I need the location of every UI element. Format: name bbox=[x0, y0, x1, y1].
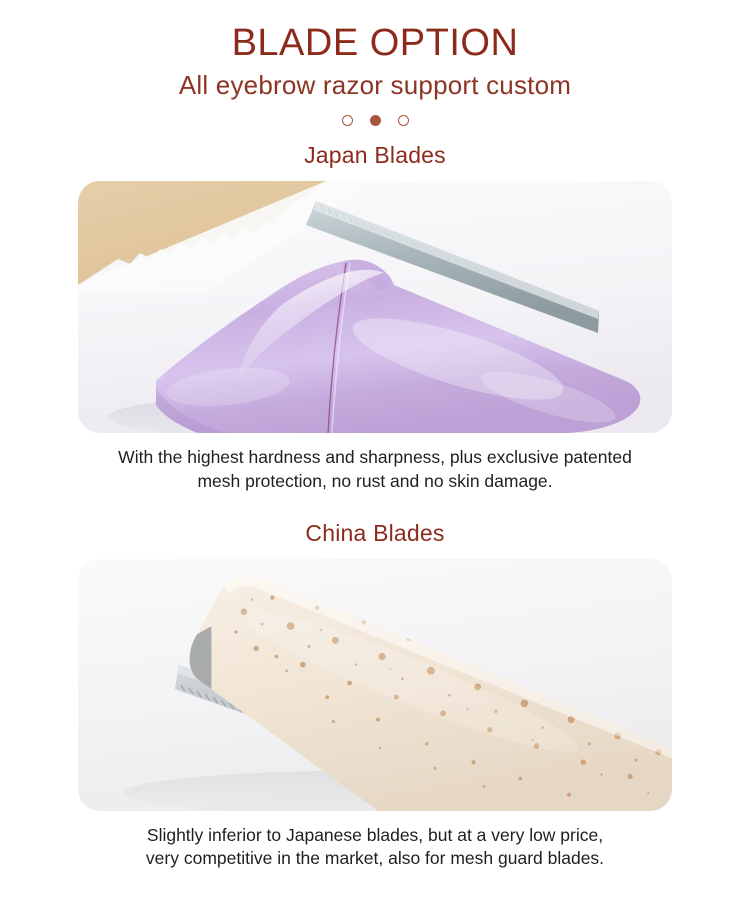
pagination-dot-1[interactable] bbox=[342, 115, 353, 126]
pagination-dot-3[interactable] bbox=[398, 115, 409, 126]
section-japan-blades: Japan Blades bbox=[0, 142, 750, 493]
page-title: BLADE OPTION bbox=[0, 22, 750, 65]
japan-caption-line-1: With the highest hardness and sharpness,… bbox=[55, 446, 695, 470]
page-subtitle: All eyebrow razor support custom bbox=[0, 71, 750, 101]
page-header: BLADE OPTION All eyebrow razor support c… bbox=[0, 0, 750, 128]
carousel-pagination bbox=[0, 112, 750, 128]
japan-blade-photo bbox=[78, 181, 672, 433]
pagination-dot-2[interactable] bbox=[370, 115, 381, 126]
section-title-china: China Blades bbox=[0, 520, 750, 547]
section-title-japan: Japan Blades bbox=[0, 142, 750, 169]
japan-blade-caption: With the highest hardness and sharpness,… bbox=[55, 446, 695, 493]
japan-caption-line-2: mesh protection, no rust and no skin dam… bbox=[55, 470, 695, 494]
section-china-blades: China Blades bbox=[0, 520, 750, 871]
china-caption-line-1: Slightly inferior to Japanese blades, bu… bbox=[55, 824, 695, 848]
china-blade-caption: Slightly inferior to Japanese blades, bu… bbox=[55, 824, 695, 871]
china-blade-photo bbox=[78, 559, 672, 811]
product-detail-page: BLADE OPTION All eyebrow razor support c… bbox=[0, 0, 750, 901]
china-blade-illustration bbox=[78, 559, 672, 811]
china-caption-line-2: very competitive in the market, also for… bbox=[55, 847, 695, 871]
japan-blade-illustration bbox=[78, 181, 672, 433]
